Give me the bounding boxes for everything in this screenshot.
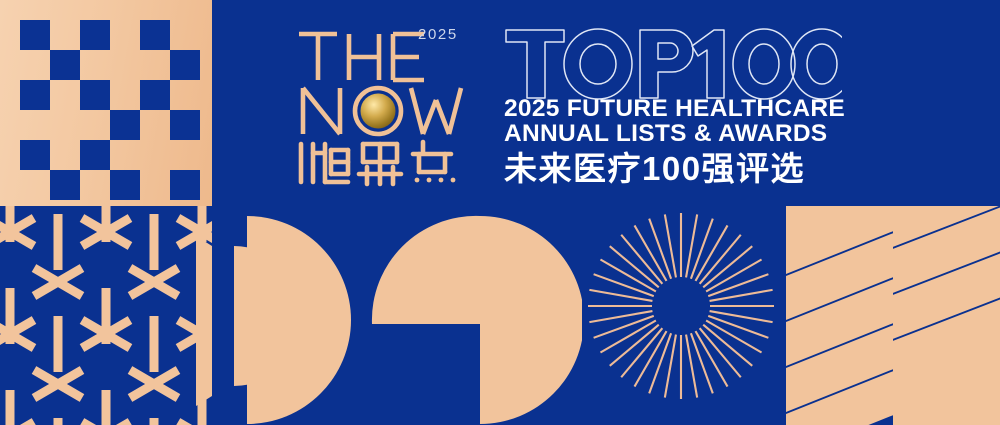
checker-cell <box>170 50 200 80</box>
starburst-ray <box>700 235 741 284</box>
starburst-ray <box>703 325 752 366</box>
starburst-ray <box>621 328 662 377</box>
headline-line-1: 2025 FUTURE HEALTHCARE <box>504 96 844 121</box>
logo-year: 2025 <box>418 26 458 43</box>
cube-lattice-pattern <box>0 206 212 425</box>
starburst-ray <box>610 325 659 366</box>
headline-line-2: ANNUAL LISTS & AWARDS <box>504 121 844 146</box>
starburst-ray <box>621 235 662 284</box>
checker-cell <box>140 80 170 110</box>
half-circle-large <box>247 216 351 424</box>
checker-cell <box>50 170 80 200</box>
starburst-ray <box>703 246 752 287</box>
checker-cell <box>80 20 110 50</box>
headline-line-chinese: 未来医疗100强评选 <box>504 149 844 189</box>
checker-cell <box>50 50 80 80</box>
checker-cell <box>80 140 110 170</box>
lattice-lines <box>0 206 212 425</box>
gold-orb <box>361 94 396 129</box>
checker-cell <box>170 110 200 140</box>
checker-cell <box>80 80 110 110</box>
checkerboard-pattern <box>0 0 212 206</box>
checker-cell <box>20 140 50 170</box>
headline-block: 2025 FUTURE HEALTHCARE ANNUAL LISTS & AW… <box>504 96 844 189</box>
logo-chinese-name <box>301 142 455 184</box>
half-circle-shapes <box>212 206 582 425</box>
checker-cell <box>20 80 50 110</box>
stripes-left-panel <box>786 206 896 425</box>
starburst-ray <box>610 246 659 287</box>
diagonal-stripes-pattern <box>786 206 1000 425</box>
checker-cell <box>170 170 200 200</box>
banner-root: 2025 2025 F <box>0 0 1000 425</box>
checker-cell <box>20 20 50 50</box>
checker-cell <box>140 20 170 50</box>
checker-cell <box>110 170 140 200</box>
starburst-ray <box>700 328 741 377</box>
logo-the-now <box>293 22 483 187</box>
notched-circle <box>372 216 582 424</box>
starburst-pattern <box>588 213 774 399</box>
top100-outline-text <box>502 20 842 100</box>
stripes-right-panel <box>890 206 1000 425</box>
checker-cell <box>110 110 140 140</box>
logo-word-the <box>299 34 424 80</box>
